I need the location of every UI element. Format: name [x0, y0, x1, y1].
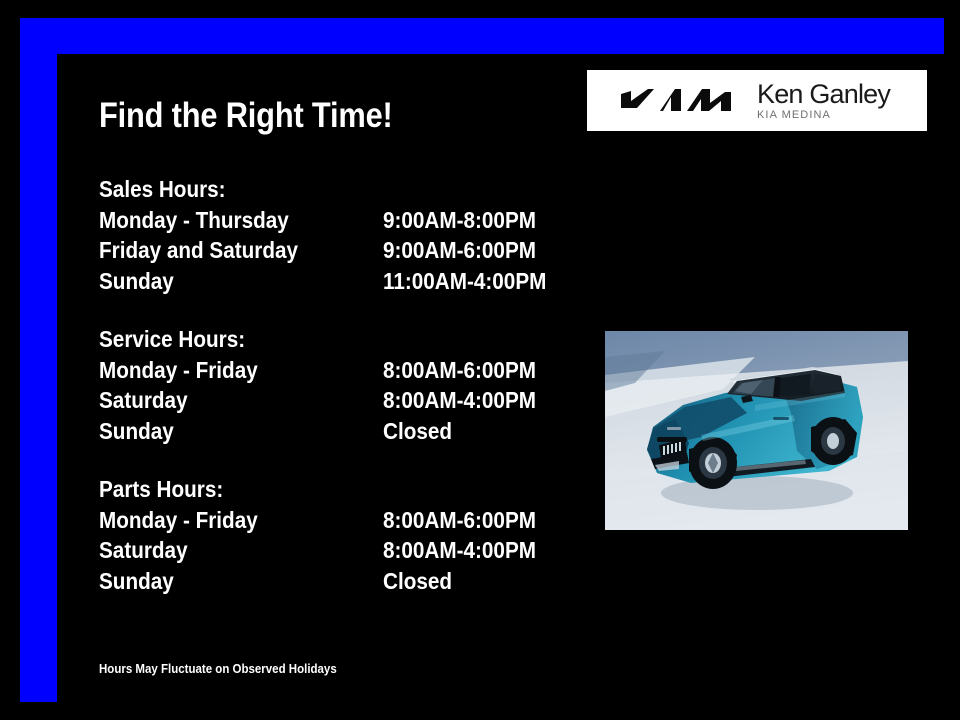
- hours-block-parts: Parts Hours: Monday - Friday 8:00AM-6:00…: [99, 474, 579, 596]
- hours-block-heading: Sales Hours:: [99, 174, 531, 205]
- hours-row: Sunday Closed: [99, 416, 579, 447]
- hours-block-service: Service Hours: Monday - Friday 8:00AM-6:…: [99, 324, 579, 446]
- hours-day-label: Friday and Saturday: [99, 235, 355, 266]
- hours-block-sales: Sales Hours: Monday - Thursday 9:00AM-8:…: [99, 174, 579, 296]
- hours-day-label: Monday - Friday: [99, 355, 355, 386]
- blue-border-frame: Find the Right Time! Ken Ganley KIA MEDI…: [20, 18, 944, 702]
- hours-day-label: Monday - Friday: [99, 505, 355, 536]
- dealer-name: Ken Ganley: [757, 80, 890, 108]
- hours-block-heading: Parts Hours:: [99, 474, 531, 505]
- hours-day-label: Saturday: [99, 385, 355, 416]
- hours-row: Monday - Friday 8:00AM-6:00PM: [99, 355, 579, 386]
- hours-day-label: Saturday: [99, 535, 355, 566]
- hours-time-value: 11:00AM-4:00PM: [383, 266, 546, 297]
- hours-day-label: Sunday: [99, 566, 355, 597]
- hours-time-value: 8:00AM-4:00PM: [383, 385, 536, 416]
- kia-ev9-suv-photo: [605, 331, 908, 530]
- hours-row: Sunday 11:00AM-4:00PM: [99, 266, 579, 297]
- hours-area: Sales Hours: Monday - Thursday 9:00AM-8:…: [99, 174, 579, 624]
- dealer-logo: Ken Ganley KIA MEDINA: [587, 70, 927, 131]
- hours-row: Saturday 8:00AM-4:00PM: [99, 535, 579, 566]
- hours-row: Friday and Saturday 9:00AM-6:00PM: [99, 235, 579, 266]
- hours-row: Saturday 8:00AM-4:00PM: [99, 385, 579, 416]
- hours-day-label: Sunday: [99, 266, 355, 297]
- hours-time-value: Closed: [383, 416, 452, 447]
- hours-row: Monday - Friday 8:00AM-6:00PM: [99, 505, 579, 536]
- slide-content-area: Find the Right Time! Ken Ganley KIA MEDI…: [57, 54, 947, 702]
- hours-time-value: Closed: [383, 566, 452, 597]
- footer-disclaimer: Hours May Fluctuate on Observed Holidays: [99, 662, 337, 676]
- kia-logo-icon: [617, 86, 735, 116]
- hours-day-label: Monday - Thursday: [99, 205, 355, 236]
- dealer-logo-text: Ken Ganley KIA MEDINA: [757, 80, 890, 122]
- slide-root: Find the Right Time! Ken Ganley KIA MEDI…: [0, 0, 960, 720]
- hours-time-value: 9:00AM-8:00PM: [383, 205, 536, 236]
- hours-time-value: 8:00AM-4:00PM: [383, 535, 536, 566]
- hours-row: Sunday Closed: [99, 566, 579, 597]
- dealer-subtitle: KIA MEDINA: [757, 108, 890, 122]
- hours-time-value: 8:00AM-6:00PM: [383, 505, 536, 536]
- hours-block-heading: Service Hours:: [99, 324, 531, 355]
- hours-time-value: 9:00AM-6:00PM: [383, 235, 536, 266]
- page-title: Find the Right Time!: [99, 96, 393, 136]
- hours-row: Monday - Thursday 9:00AM-8:00PM: [99, 205, 579, 236]
- hours-time-value: 8:00AM-6:00PM: [383, 355, 536, 386]
- hours-day-label: Sunday: [99, 416, 355, 447]
